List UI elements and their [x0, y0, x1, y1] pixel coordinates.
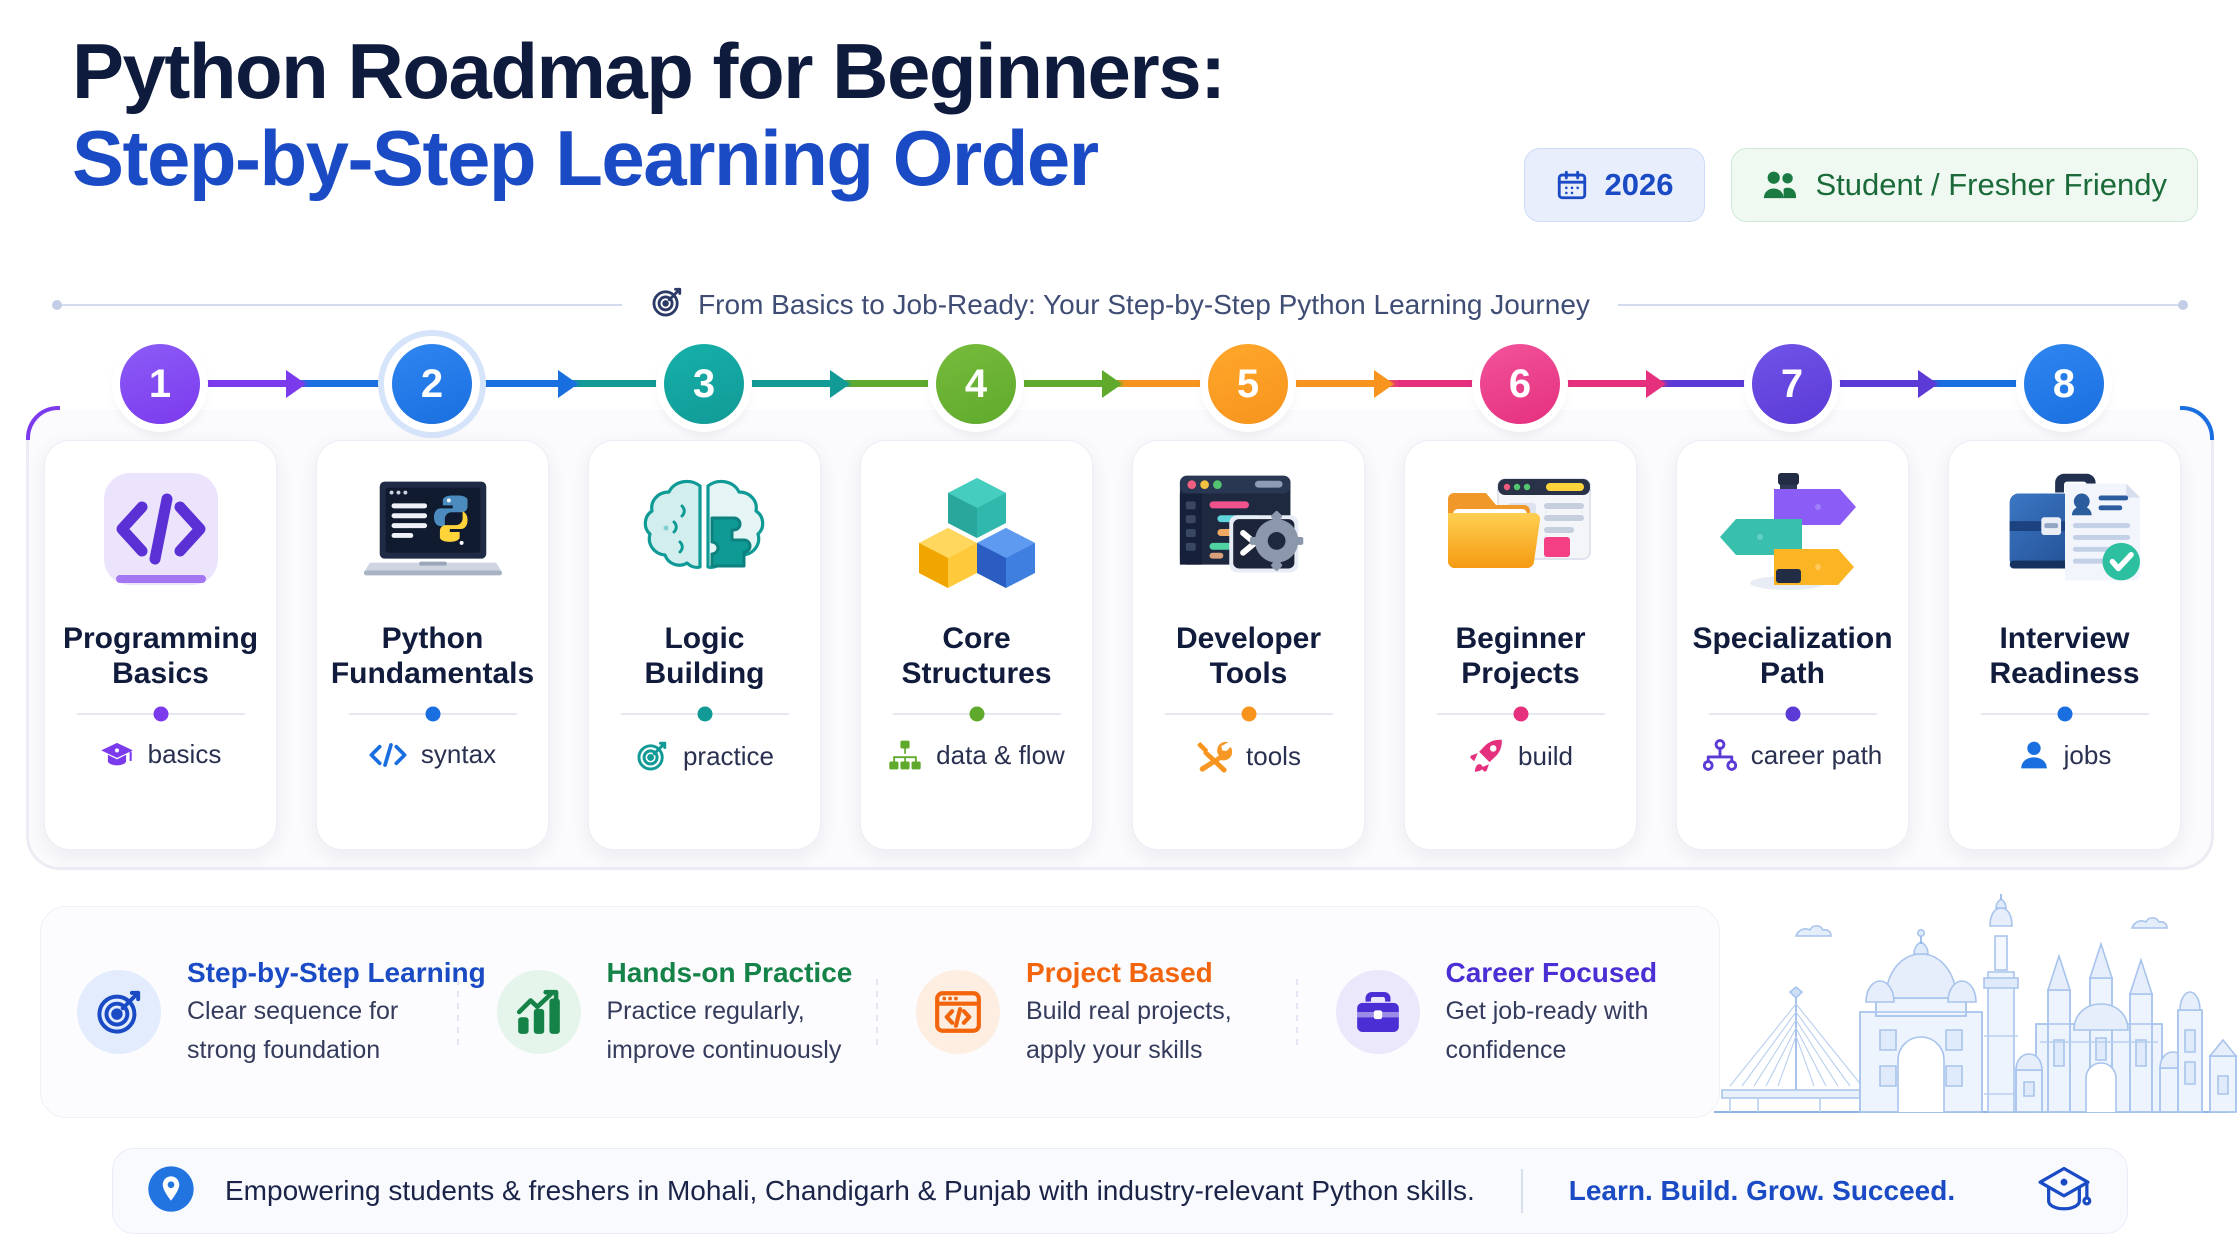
step-node-number: 4	[965, 362, 987, 407]
step-card-tag: practice	[635, 739, 774, 773]
step-card-title-line1: Logic	[664, 622, 744, 655]
timeline-connector-3	[748, 380, 932, 387]
briefcase-resume	[1990, 467, 2140, 599]
audience-badge-label: Student / Fresher Friendy	[1816, 167, 2168, 203]
chart-growth-icon	[497, 970, 581, 1054]
step-card-dot	[153, 707, 168, 722]
city-skyline-line-art	[1700, 880, 2240, 1130]
arrow-head-icon	[1646, 370, 1666, 398]
step-card-tag: build	[1468, 739, 1573, 773]
audience-badge[interactable]: Student / Fresher Friendy	[1731, 148, 2199, 222]
step-card-title: BeginnerProjects	[1447, 621, 1593, 691]
subtitle: From Basics to Job-Ready: Your Step-by-S…	[622, 285, 1618, 326]
step-card-tag-label: practice	[683, 741, 774, 772]
step-card-tag-label: career path	[1751, 740, 1883, 771]
step-card-title-line2: Projects	[1461, 657, 1579, 690]
feature-heading: Hands-on Practice	[607, 957, 853, 989]
step-card-title-line2: Structures	[901, 657, 1051, 690]
hierarchy-icon	[1703, 739, 1737, 771]
terminal-gear	[1174, 467, 1324, 599]
step-card-tag: data & flow	[888, 739, 1065, 771]
step-node-2[interactable]: 2	[392, 344, 472, 424]
step-node-6[interactable]: 6	[1480, 344, 1560, 424]
step-card-dot	[1785, 707, 1800, 722]
step-card-title-line1: Interview	[1999, 622, 2129, 655]
step-card-dot	[2057, 707, 2072, 722]
code-window-icon	[916, 970, 1000, 1054]
step-card-dot	[1241, 707, 1256, 722]
step-node-number: 1	[149, 362, 171, 407]
step-card-title: ProgrammingBasics	[55, 621, 266, 691]
step-card-title-line2: Path	[1760, 657, 1825, 690]
step-card-title-line2: Basics	[112, 657, 209, 690]
feature-band: Step-by-Step LearningClear sequence fors…	[40, 906, 1720, 1118]
feature-item-3: Project BasedBuild real projects,apply y…	[880, 957, 1300, 1068]
rule-dot-left	[52, 300, 62, 310]
step-card-title: PythonFundamentals	[323, 621, 542, 691]
title-line-1: Python Roadmap for Beginners:	[72, 30, 1225, 113]
feature-heading: Career Focused	[1446, 957, 1658, 989]
step-cards: ProgrammingBasicsbasics PythonFundamenta…	[0, 440, 2240, 860]
step-node-3[interactable]: 3	[664, 344, 744, 424]
step-card-3[interactable]: LogicBuildingpractice	[588, 440, 821, 850]
graduation-cap-icon	[100, 740, 134, 770]
arrow-head-icon	[1918, 370, 1938, 398]
step-card-divider	[349, 713, 517, 715]
feature-heading: Step-by-Step Learning	[187, 957, 461, 989]
rule-line-right	[1618, 304, 2178, 306]
step-card-title-line1: Beginner	[1455, 622, 1585, 655]
title-line-2: Step-by-Step Learning Order	[72, 117, 1225, 200]
feature-line-1: Build real projects,	[1026, 994, 1232, 1029]
person-icon	[2018, 739, 2050, 771]
timeline-connector-1	[204, 380, 388, 387]
footer-slogan: Learn. Build. Grow. Succeed.	[1569, 1175, 1955, 1207]
signpost	[1718, 467, 1868, 599]
step-card-divider	[1437, 713, 1605, 715]
footer-description: Empowering students & freshers in Mohali…	[225, 1175, 1475, 1207]
timeline-connector-4	[1020, 380, 1204, 387]
step-card-tag: tools	[1196, 739, 1301, 773]
step-card-6[interactable]: BeginnerProjectsbuild	[1404, 440, 1637, 850]
step-card-divider	[1709, 713, 1877, 715]
rocket-icon	[1468, 739, 1504, 773]
people-icon	[1762, 169, 1800, 201]
step-card-title-line2: Tools	[1210, 657, 1288, 690]
step-card-dot	[1513, 707, 1528, 722]
step-card-title-line1: Programming	[63, 622, 258, 655]
step-card-divider	[893, 713, 1061, 715]
calendar-icon	[1555, 168, 1589, 202]
step-node-4[interactable]: 4	[936, 344, 1016, 424]
step-card-title-line1: Specialization	[1692, 622, 1892, 655]
step-node-7[interactable]: 7	[1752, 344, 1832, 424]
arrow-head-icon	[558, 370, 578, 398]
step-card-tag-label: jobs	[2064, 740, 2112, 771]
timeline-connector-6	[1564, 380, 1748, 387]
folder-window	[1446, 467, 1596, 599]
step-card-tag-label: syntax	[421, 739, 496, 770]
arrow-head-icon	[286, 370, 306, 398]
step-card-8[interactable]: InterviewReadinessjobs	[1948, 440, 2181, 850]
step-card-title-line1: Developer	[1176, 622, 1321, 655]
timeline-connector-2	[476, 380, 660, 387]
step-card-dot	[425, 707, 440, 722]
timeline-connector-5	[1292, 380, 1476, 387]
step-card-divider	[77, 713, 245, 715]
location-pin-icon	[147, 1165, 195, 1218]
footer-bar: Empowering students & freshers in Mohali…	[112, 1148, 2128, 1234]
step-card-tag-label: tools	[1246, 741, 1301, 772]
step-card-title-line1: Core	[942, 622, 1010, 655]
step-card-title: InterviewReadiness	[1981, 621, 2147, 691]
step-card-title: SpecializationPath	[1684, 621, 1900, 691]
tools-icon	[1196, 739, 1232, 773]
timeline-connector-7	[1836, 380, 2020, 387]
step-card-title: DeveloperTools	[1168, 621, 1329, 691]
subtitle-text: From Basics to Job-Ready: Your Step-by-S…	[698, 289, 1590, 321]
step-card-5[interactable]: DeveloperToolstools	[1132, 440, 1365, 850]
step-node-number: 8	[2053, 362, 2075, 407]
rule-dot-right	[2178, 300, 2188, 310]
step-card-title-line2: Readiness	[1989, 657, 2139, 690]
footer-divider	[1521, 1169, 1523, 1213]
step-node-number: 6	[1509, 362, 1531, 407]
step-card-divider	[621, 713, 789, 715]
cubes	[902, 467, 1052, 599]
feature-item-4: Career FocusedGet job-ready withconfiden…	[1300, 957, 1720, 1068]
feature-line-2: strong foundation	[187, 1033, 461, 1068]
feature-heading: Project Based	[1026, 957, 1232, 989]
year-badge[interactable]: 2026	[1524, 148, 1705, 222]
step-card-tag: basics	[100, 739, 222, 770]
feature-line-2: apply your skills	[1026, 1033, 1232, 1068]
step-card-2[interactable]: PythonFundamentalssyntax	[316, 440, 549, 850]
step-card-4[interactable]: CoreStructuresdata & flow	[860, 440, 1093, 850]
step-card-tag: jobs	[2018, 739, 2112, 771]
step-node-1[interactable]: 1	[120, 344, 200, 424]
target-icon	[77, 970, 161, 1054]
step-card-tag-label: basics	[148, 739, 222, 770]
sitemap-icon	[888, 739, 922, 771]
subtitle-rule: From Basics to Job-Ready: Your Step-by-S…	[0, 285, 2240, 325]
step-card-divider	[1165, 713, 1333, 715]
briefcase-icon	[1336, 970, 1420, 1054]
step-card-7[interactable]: SpecializationPathcareer path	[1676, 440, 1909, 850]
step-node-number: 5	[1237, 362, 1259, 407]
target-icon	[635, 739, 669, 773]
arrow-head-icon	[1374, 370, 1394, 398]
step-node-number: 7	[1781, 362, 1803, 407]
graduation-cap-outline-icon	[2035, 1163, 2093, 1220]
arrow-head-icon	[830, 370, 850, 398]
step-node-number: 3	[693, 362, 715, 407]
step-card-title-line2: Building	[645, 657, 765, 690]
step-card-dot	[969, 707, 984, 722]
feature-item-2: Hands-on PracticePractice regularly,impr…	[461, 957, 881, 1068]
feature-line-2: confidence	[1446, 1033, 1658, 1068]
year-badge-label: 2026	[1605, 167, 1674, 203]
code-icon	[369, 741, 407, 769]
brain-puzzle	[630, 467, 780, 599]
step-card-tag: syntax	[369, 739, 496, 770]
header-badges: 2026 Student / Fresher Friendy	[1524, 148, 2198, 222]
step-card-title: LogicBuilding	[637, 621, 773, 691]
step-card-tag-label: data & flow	[936, 740, 1065, 771]
target-icon	[650, 285, 684, 326]
rule-line-left	[62, 304, 622, 306]
feature-line-2: improve continuously	[607, 1033, 853, 1068]
step-card-tag: career path	[1703, 739, 1883, 771]
infographic-root: Python Roadmap for Beginners: Step-by-St…	[0, 0, 2240, 1260]
step-card-tag-label: build	[1518, 741, 1573, 772]
feature-line-1: Get job-ready with	[1446, 994, 1658, 1029]
code-brackets-tile	[86, 467, 236, 599]
step-card-title: CoreStructures	[893, 621, 1059, 691]
step-card-divider	[1981, 713, 2149, 715]
header: Python Roadmap for Beginners: Step-by-St…	[0, 0, 2240, 278]
arrow-head-icon	[1102, 370, 1122, 398]
laptop-python	[358, 467, 508, 599]
step-card-dot	[697, 707, 712, 722]
step-node-number: 2	[421, 362, 443, 407]
step-node-5[interactable]: 5	[1208, 344, 1288, 424]
step-node-8[interactable]: 8	[2024, 344, 2104, 424]
feature-item-1: Step-by-Step LearningClear sequence fors…	[41, 957, 461, 1068]
page-title: Python Roadmap for Beginners: Step-by-St…	[72, 30, 1225, 199]
step-card-title-line1: Python	[382, 622, 484, 655]
feature-line-1: Clear sequence for	[187, 994, 461, 1029]
feature-line-1: Practice regularly,	[607, 994, 853, 1029]
step-card-title-line2: Fundamentals	[331, 657, 534, 690]
step-card-1[interactable]: ProgrammingBasicsbasics	[44, 440, 277, 850]
